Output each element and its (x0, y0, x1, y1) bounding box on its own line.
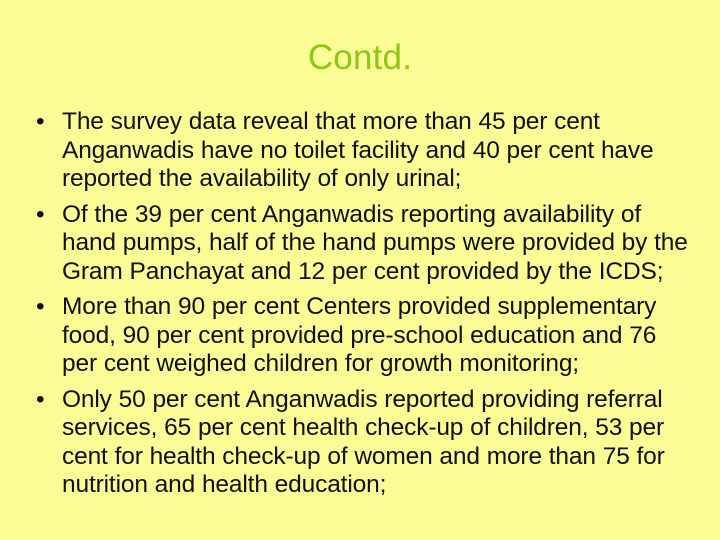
page-title: Contd. (0, 38, 720, 78)
list-item-text: The survey data reveal that more than 45… (62, 108, 696, 194)
list-item: • The survey data reveal that more than … (28, 108, 696, 194)
list-item: • Of the 39 per cent Anganwadis reportin… (28, 201, 696, 287)
list-item-text: Of the 39 per cent Anganwadis reporting … (62, 201, 696, 287)
bullet-point-icon: • (36, 293, 54, 322)
list-item: • Only 50 per cent Anganwadis reported p… (28, 386, 696, 500)
bullet-list: • The survey data reveal that more than … (28, 108, 696, 500)
presentation-slide: Contd. • The survey data reveal that mor… (0, 0, 720, 540)
list-item-text: More than 90 per cent Centers provided s… (62, 293, 696, 379)
bullet-point-icon: • (36, 108, 54, 137)
bullet-point-icon: • (36, 201, 54, 230)
list-item-text: Only 50 per cent Anganwadis reported pro… (62, 386, 696, 500)
list-item: • More than 90 per cent Centers provided… (28, 293, 696, 379)
bullet-point-icon: • (36, 386, 54, 415)
